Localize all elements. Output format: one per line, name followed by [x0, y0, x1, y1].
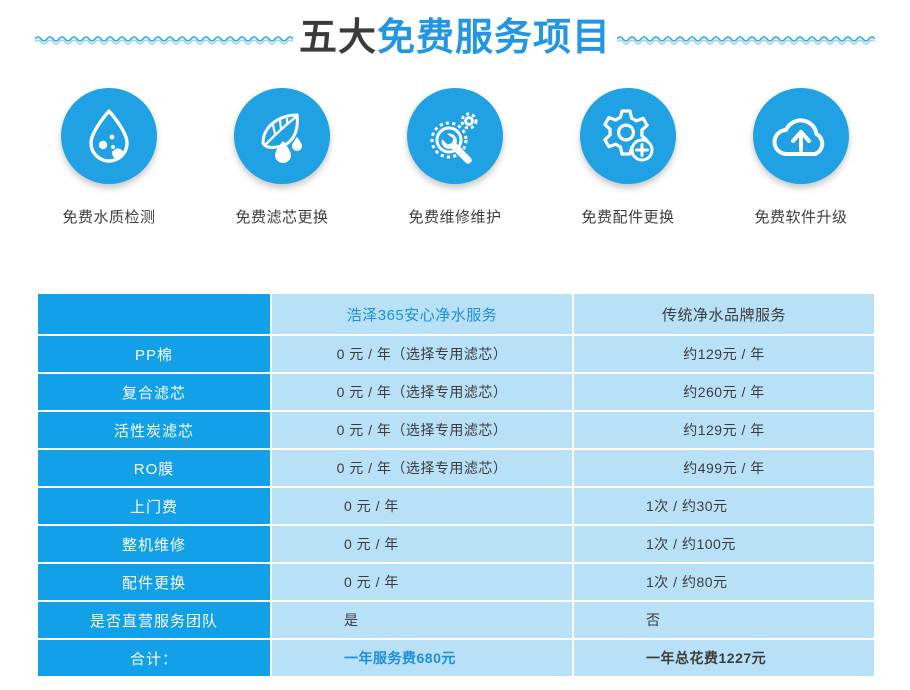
- table-row-total: 合计： 一年服务费680元 一年总花费1227元: [38, 640, 874, 676]
- row-value-ours: 0 元 / 年: [272, 488, 572, 524]
- row-value-ours: 0 元 / 年（选择专用滤芯）: [272, 374, 572, 410]
- page-title: 五大免费服务项目: [299, 19, 611, 59]
- row-label: RO膜: [38, 450, 270, 486]
- row-value-ours: 一年服务费680元: [272, 640, 572, 676]
- service-icon-badge: [61, 88, 157, 184]
- wave-divider-left-icon: [35, 32, 293, 46]
- table-row: 配件更换 0 元 / 年 1次 / 约80元: [38, 564, 874, 600]
- service-item-label: 免费滤芯更换: [235, 206, 328, 227]
- water-drop-test-icon: [82, 107, 136, 165]
- row-value-ours: 0 元 / 年（选择专用滤芯）: [272, 450, 572, 486]
- row-label: 是否直营服务团队: [38, 602, 270, 638]
- row-label: 复合滤芯: [38, 374, 270, 410]
- table-row: 复合滤芯 0 元 / 年（选择专用滤芯） 约260元 / 年: [38, 374, 874, 410]
- gear-wrench-icon: [425, 107, 485, 165]
- page-title-highlight: 免费服务项目: [377, 17, 611, 59]
- row-label: 上门费: [38, 488, 270, 524]
- row-value-theirs: 一年总花费1227元: [574, 640, 874, 676]
- table-row: 是否直营服务团队 是 否: [38, 602, 874, 638]
- row-value-theirs: 否: [574, 602, 874, 638]
- service-item-filter-replacement[interactable]: 免费滤芯更换: [203, 88, 361, 227]
- row-label: PP棉: [38, 336, 270, 372]
- leaf-droplet-icon: [253, 107, 311, 165]
- row-value-ours: 0 元 / 年: [272, 526, 572, 562]
- page-title-prefix: 五大: [299, 17, 377, 59]
- table-header-blank: [38, 294, 270, 334]
- service-icon-badge: [580, 88, 676, 184]
- service-list: 免费水质检测 免费滤芯更换: [0, 88, 910, 248]
- service-icon-badge: [407, 88, 503, 184]
- table-row: 上门费 0 元 / 年 1次 / 约30元: [38, 488, 874, 524]
- table-header-ours: 浩泽365安心净水服务: [272, 294, 572, 334]
- service-item-label: 免费水质检测: [62, 206, 155, 227]
- row-value-theirs: 约129元 / 年: [574, 412, 874, 448]
- row-value-theirs: 约260元 / 年: [574, 374, 874, 410]
- cloud-upload-icon: [770, 112, 832, 160]
- row-value-theirs: 约499元 / 年: [574, 450, 874, 486]
- wave-divider-right-icon: [617, 32, 875, 46]
- table-row: 活性炭滤芯 0 元 / 年（选择专用滤芯） 约129元 / 年: [38, 412, 874, 448]
- row-value-ours: 0 元 / 年（选择专用滤芯）: [272, 336, 572, 372]
- row-label: 合计：: [38, 640, 270, 676]
- service-item-label: 免费软件升级: [754, 206, 847, 227]
- table-row: PP棉 0 元 / 年（选择专用滤芯） 约129元 / 年: [38, 336, 874, 372]
- page-title-bar: 五大免费服务项目: [0, 0, 910, 78]
- row-value-theirs: 1次 / 约100元: [574, 526, 874, 562]
- service-item-label: 免费配件更换: [581, 206, 674, 227]
- row-label: 配件更换: [38, 564, 270, 600]
- row-label: 整机维修: [38, 526, 270, 562]
- service-item-label: 免费维修维护: [408, 206, 501, 227]
- table-row: RO膜 0 元 / 年（选择专用滤芯） 约499元 / 年: [38, 450, 874, 486]
- row-value-ours: 0 元 / 年（选择专用滤芯）: [272, 412, 572, 448]
- service-item-maintenance[interactable]: 免费维修维护: [376, 88, 534, 227]
- table-header-theirs: 传统净水品牌服务: [574, 294, 874, 334]
- service-item-water-quality[interactable]: 免费水质检测: [30, 88, 188, 227]
- service-icon-badge: [234, 88, 330, 184]
- row-value-ours: 0 元 / 年: [272, 564, 572, 600]
- row-value-ours: 是: [272, 602, 572, 638]
- gear-plus-icon: [599, 107, 657, 165]
- service-comparison-table: 浩泽365安心净水服务 传统净水品牌服务 PP棉 0 元 / 年（选择专用滤芯）…: [36, 292, 876, 678]
- service-icon-badge: [753, 88, 849, 184]
- row-value-theirs: 1次 / 约80元: [574, 564, 874, 600]
- service-item-software-upgrade[interactable]: 免费软件升级: [722, 88, 880, 227]
- row-value-theirs: 约129元 / 年: [574, 336, 874, 372]
- service-item-parts-replacement[interactable]: 免费配件更换: [549, 88, 707, 227]
- row-label: 活性炭滤芯: [38, 412, 270, 448]
- table-row: 整机维修 0 元 / 年 1次 / 约100元: [38, 526, 874, 562]
- row-value-theirs: 1次 / 约30元: [574, 488, 874, 524]
- table-header-row: 浩泽365安心净水服务 传统净水品牌服务: [38, 294, 874, 334]
